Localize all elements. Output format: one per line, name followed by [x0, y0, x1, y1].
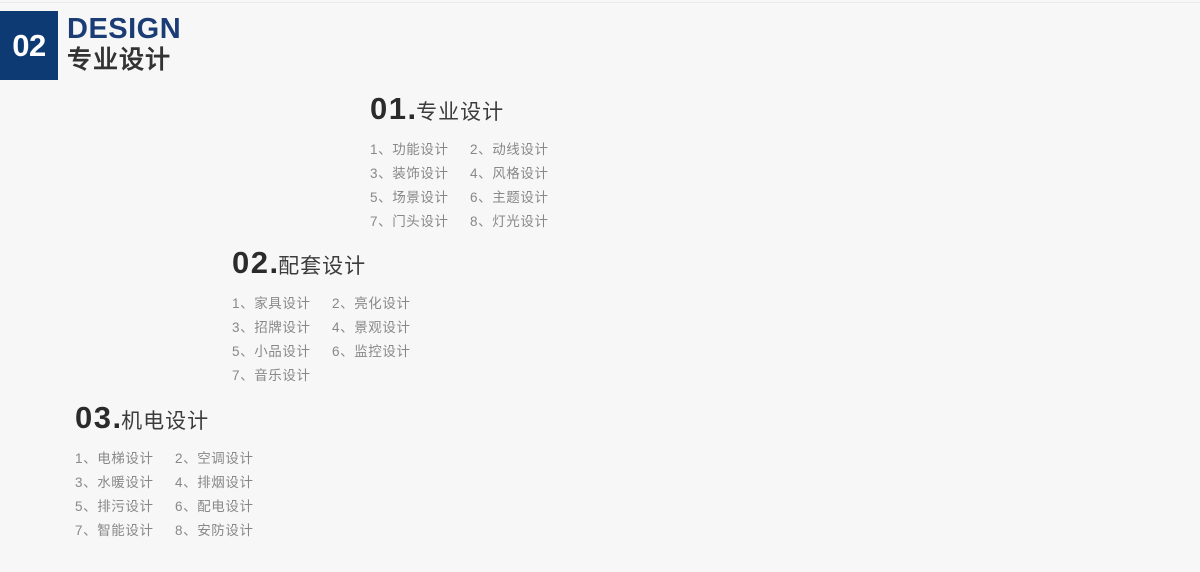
section-item-list: 1、家具设计 2、亮化设计 3、招牌设计 4、景观设计 5、小品设计 6、监控设… [232, 292, 432, 388]
section-block-02: 02.配套设计 1、家具设计 2、亮化设计 3、招牌设计 4、景观设计 5、小品… [232, 247, 432, 388]
list-item-right: 8、灯光设计 [470, 210, 570, 234]
section-dot: . [269, 245, 278, 280]
section-dot: . [112, 400, 121, 435]
list-item-right: 6、配电设计 [175, 495, 275, 519]
section-title-label: 配套设计 [278, 255, 366, 278]
section-index-label: 01 [370, 91, 407, 126]
list-item: 7、智能设计 8、安防设计 [75, 519, 275, 543]
list-item-left: 1、家具设计 [232, 292, 332, 316]
list-item: 1、电梯设计 2、空调设计 [75, 447, 275, 471]
list-item: 3、水暖设计 4、排烟设计 [75, 471, 275, 495]
list-item: 1、家具设计 2、亮化设计 [232, 292, 432, 316]
list-item-left: 7、门头设计 [370, 210, 470, 234]
list-item: 5、小品设计 6、监控设计 [232, 340, 432, 364]
list-item-right: 2、空调设计 [175, 447, 275, 471]
list-item-right: 6、监控设计 [332, 340, 432, 364]
list-item: 3、装饰设计 4、风格设计 [370, 162, 570, 186]
list-item-left: 3、装饰设计 [370, 162, 470, 186]
section-heading: 01.专业设计 [370, 93, 570, 124]
list-item-right: 8、安防设计 [175, 519, 275, 543]
list-item-left: 7、音乐设计 [232, 364, 332, 388]
list-item-left: 7、智能设计 [75, 519, 175, 543]
sections-container: 01.专业设计 1、功能设计 2、动线设计 3、装饰设计 4、风格设计 5、场景… [0, 0, 1200, 572]
list-item-left: 5、场景设计 [370, 186, 470, 210]
section-item-list: 1、功能设计 2、动线设计 3、装饰设计 4、风格设计 5、场景设计 6、主题设… [370, 138, 570, 234]
list-item-right: 4、排烟设计 [175, 471, 275, 495]
list-item-right: 2、亮化设计 [332, 292, 432, 316]
list-item-left: 5、小品设计 [232, 340, 332, 364]
list-item-left: 5、排污设计 [75, 495, 175, 519]
section-title-label: 机电设计 [121, 410, 209, 433]
section-block-03: 03.机电设计 1、电梯设计 2、空调设计 3、水暖设计 4、排烟设计 5、排污… [75, 402, 275, 543]
list-item-left: 3、水暖设计 [75, 471, 175, 495]
section-dot: . [407, 91, 416, 126]
list-item-right: 4、景观设计 [332, 316, 432, 340]
section-item-list: 1、电梯设计 2、空调设计 3、水暖设计 4、排烟设计 5、排污设计 6、配电设… [75, 447, 275, 543]
section-index-label: 03 [75, 400, 112, 435]
section-heading: 03.机电设计 [75, 402, 275, 433]
list-item-left: 1、电梯设计 [75, 447, 175, 471]
list-item: 3、招牌设计 4、景观设计 [232, 316, 432, 340]
list-item: 7、门头设计 8、灯光设计 [370, 210, 570, 234]
list-item-right [332, 364, 432, 388]
list-item-right: 6、主题设计 [470, 186, 570, 210]
slide-canvas: 02 DESIGN 专业设计 01.专业设计 1、功能设计 2、动线设计 3、装… [0, 0, 1200, 572]
section-index-label: 02 [232, 245, 269, 280]
list-item: 7、音乐设计 [232, 364, 432, 388]
list-item-right: 4、风格设计 [470, 162, 570, 186]
list-item-left: 1、功能设计 [370, 138, 470, 162]
list-item: 5、排污设计 6、配电设计 [75, 495, 275, 519]
list-item-right: 2、动线设计 [470, 138, 570, 162]
section-block-01: 01.专业设计 1、功能设计 2、动线设计 3、装饰设计 4、风格设计 5、场景… [370, 93, 570, 234]
list-item: 1、功能设计 2、动线设计 [370, 138, 570, 162]
section-heading: 02.配套设计 [232, 247, 432, 278]
list-item-left: 3、招牌设计 [232, 316, 332, 340]
section-title-label: 专业设计 [416, 101, 504, 124]
list-item: 5、场景设计 6、主题设计 [370, 186, 570, 210]
